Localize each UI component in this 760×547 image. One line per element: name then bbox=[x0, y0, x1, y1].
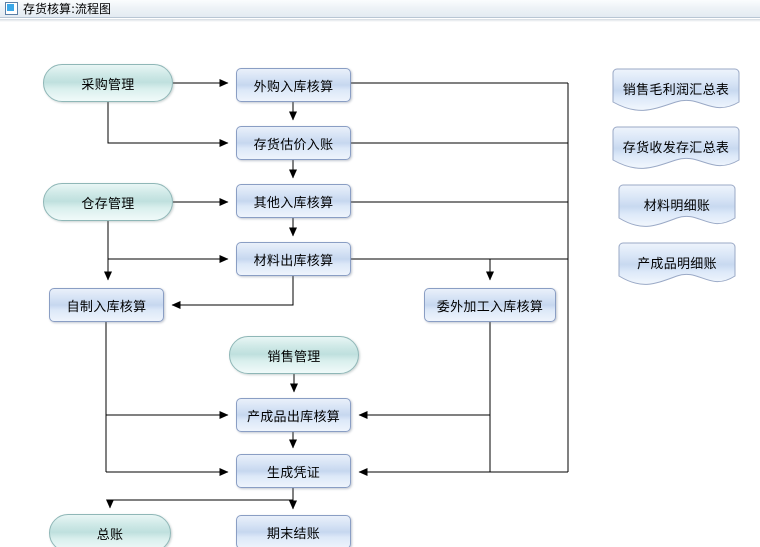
node-shengcheng-pingzheng[interactable]: 生成凭证 bbox=[236, 454, 351, 488]
window-restore-icon[interactable] bbox=[5, 2, 18, 15]
window-titlebar[interactable]: 存货核算:流程图 bbox=[0, 0, 760, 18]
window-title: 存货核算:流程图 bbox=[23, 2, 111, 16]
node-label: 外购入库核算 bbox=[254, 76, 334, 95]
report-label: 存货收发存汇总表 bbox=[623, 137, 729, 156]
node-cailiao-chuku[interactable]: 材料出库核算 bbox=[236, 242, 351, 276]
node-label: 销售管理 bbox=[267, 346, 320, 365]
report-label: 销售毛利润汇总表 bbox=[623, 79, 729, 98]
node-label: 期末结账 bbox=[267, 523, 320, 542]
node-waigou-ruku[interactable]: 外购入库核算 bbox=[236, 68, 351, 102]
report-xiaoshou-maolirun[interactable]: 销售毛利润汇总表 bbox=[612, 68, 740, 114]
node-cangcun[interactable]: 仓存管理 bbox=[43, 183, 173, 221]
node-qimo-jiezhang[interactable]: 期末结账 bbox=[236, 515, 351, 547]
node-weiwai-jiagong-ruku[interactable]: 委外加工入库核算 bbox=[424, 288, 556, 322]
node-chanchengpin-chuku[interactable]: 产成品出库核算 bbox=[236, 398, 351, 432]
node-label: 存货估价入账 bbox=[254, 134, 334, 153]
node-label: 自制入库核算 bbox=[67, 296, 147, 315]
node-zizhi-ruku[interactable]: 自制入库核算 bbox=[49, 288, 164, 322]
node-cunhuo-gujia[interactable]: 存货估价入账 bbox=[236, 126, 351, 160]
node-zongzhang[interactable]: 总账 bbox=[49, 514, 171, 547]
node-label: 产成品出库核算 bbox=[247, 406, 340, 425]
node-label: 生成凭证 bbox=[267, 462, 320, 481]
node-qita-ruku[interactable]: 其他入库核算 bbox=[236, 184, 351, 218]
node-label: 采购管理 bbox=[81, 74, 134, 93]
report-label: 材料明细账 bbox=[644, 195, 711, 214]
diagram-canvas[interactable]: 采购管理 外购入库核算 存货估价入账 仓存管理 其他入库核算 材料出库核算 自制… bbox=[0, 22, 760, 547]
node-label: 委外加工入库核算 bbox=[437, 296, 543, 315]
node-label: 总账 bbox=[97, 524, 124, 543]
report-cunhuo-shoufacun[interactable]: 存货收发存汇总表 bbox=[612, 126, 740, 172]
report-chanchengpin-mingxizhang[interactable]: 产成品明细账 bbox=[618, 242, 736, 288]
report-label: 产成品明细账 bbox=[637, 253, 717, 272]
node-caigou[interactable]: 采购管理 bbox=[43, 64, 173, 102]
node-label: 材料出库核算 bbox=[254, 250, 334, 269]
node-label: 其他入库核算 bbox=[254, 192, 334, 211]
flowchart-window: 存货核算:流程图 bbox=[0, 0, 760, 547]
node-xiaoshou[interactable]: 销售管理 bbox=[229, 336, 359, 374]
report-cailiao-mingxizhang[interactable]: 材料明细账 bbox=[618, 184, 736, 230]
node-label: 仓存管理 bbox=[81, 193, 134, 212]
